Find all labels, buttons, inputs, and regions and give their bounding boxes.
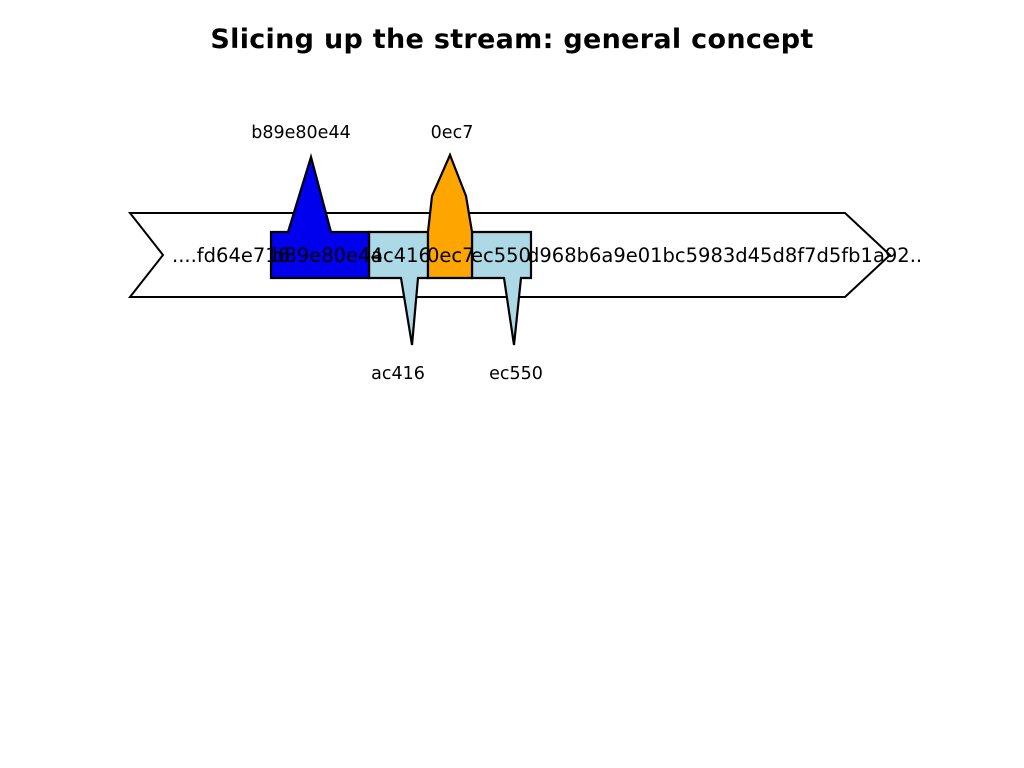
- callout-label-bottom-right: ec550: [489, 364, 543, 384]
- segment-lightblue-1-text: ac416: [371, 244, 431, 267]
- callout-label-top-right: 0ec7: [431, 123, 474, 143]
- stream-suffix-text: d968b6a9e01bc5983d45d8f7d5fb1a92..: [527, 244, 922, 267]
- segment-orange-text: 0ec7: [427, 244, 475, 267]
- byte-stream-slicing-diagram: ....fd64e716 b89e80e44 ac416 0ec7 ec550 …: [0, 0, 1024, 768]
- segment-lightblue-2-text: ec550: [471, 244, 531, 267]
- segment-blue-text: b89e80e44: [272, 244, 383, 267]
- callout-label-bottom-left: ac416: [371, 364, 425, 384]
- callout-label-top-left: b89e80e44: [251, 123, 350, 143]
- slide-canvas: Slicing up the stream: general concept .…: [0, 0, 1024, 768]
